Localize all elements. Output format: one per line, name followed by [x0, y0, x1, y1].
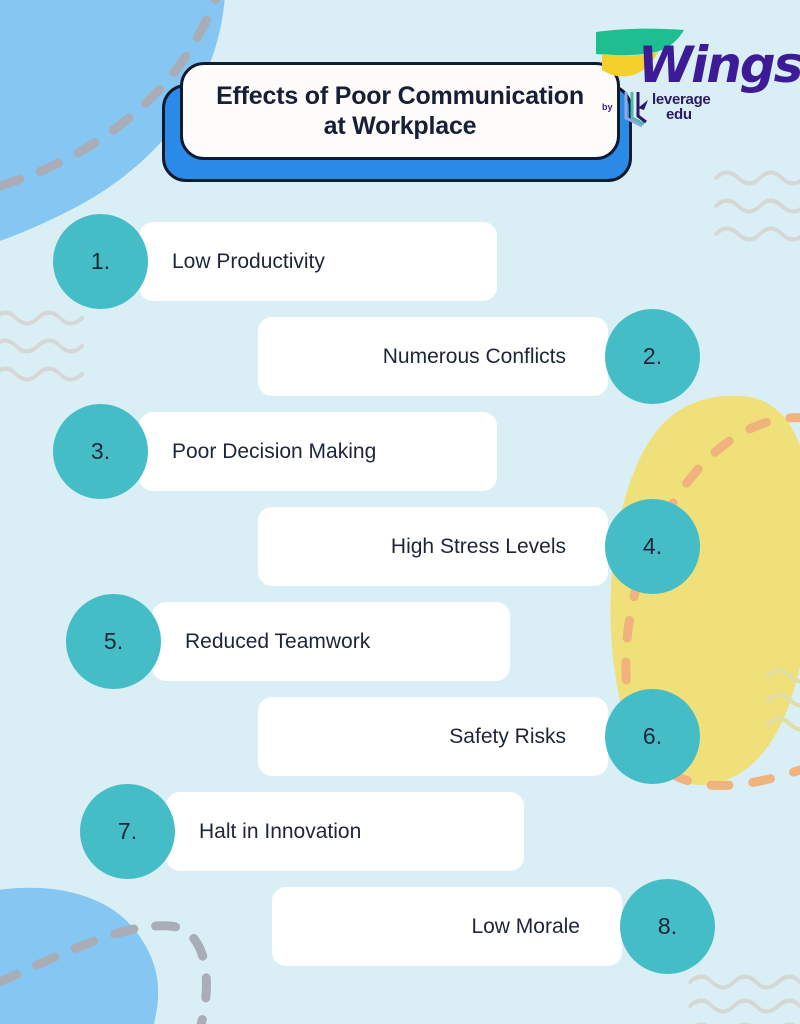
item-number-badge: 4. [605, 499, 700, 594]
item-label: Reduced Teamwork [185, 630, 370, 654]
item-number: 1. [91, 248, 110, 275]
logo-sub-line2: edu [666, 107, 710, 122]
item-card[interactable]: Reduced Teamwork [152, 602, 510, 681]
wings-logo[interactable]: Wings by leverage edu [586, 18, 786, 136]
infographic-poster: Effects of Poor Communication at Workpla… [0, 0, 800, 1024]
item-label: Numerous Conflicts [383, 345, 566, 369]
list-item[interactable]: Low Morale 8. [0, 879, 800, 974]
list-item[interactable]: 3. Poor Decision Making [0, 404, 800, 499]
item-number: 3. [91, 438, 110, 465]
logo-sub-wordmark: leverage edu [652, 92, 710, 122]
item-label: High Stress Levels [391, 535, 566, 559]
page-title-line2: at Workplace [216, 111, 584, 142]
item-number-badge: 7. [80, 784, 175, 879]
item-card[interactable]: Halt in Innovation [166, 792, 524, 871]
list-item[interactable]: 5. Reduced Teamwork [0, 594, 800, 689]
item-number-badge: 6. [605, 689, 700, 784]
item-card[interactable]: Numerous Conflicts [258, 317, 608, 396]
item-label: Low Morale [471, 915, 580, 939]
list-item[interactable]: 1. Low Productivity [0, 214, 800, 309]
item-card[interactable]: Safety Risks [258, 697, 608, 776]
item-label: Halt in Innovation [199, 820, 361, 844]
item-label: Low Productivity [172, 250, 325, 274]
item-number: 5. [104, 628, 123, 655]
title-banner-card: Effects of Poor Communication at Workpla… [180, 62, 620, 160]
item-label: Poor Decision Making [172, 440, 376, 464]
page-title: Effects of Poor Communication at Workpla… [216, 81, 584, 142]
logo-wordmark: Wings [638, 36, 800, 94]
wave-lines-bottom-right [690, 977, 800, 1024]
item-number-badge: 1. [53, 214, 148, 309]
leverage-edu-mark-icon [622, 90, 650, 130]
effects-list: 1. Low Productivity Numerous Conflicts 2… [0, 214, 800, 974]
item-number-badge: 8. [620, 879, 715, 974]
item-card[interactable]: Low Morale [272, 887, 622, 966]
item-number-badge: 5. [66, 594, 161, 689]
item-number: 8. [658, 913, 677, 940]
page-title-line1: Effects of Poor Communication [216, 81, 584, 112]
logo-by-label: by [602, 102, 613, 112]
list-item[interactable]: Numerous Conflicts 2. [0, 309, 800, 404]
item-number: 6. [643, 723, 662, 750]
list-item[interactable]: Safety Risks 6. [0, 689, 800, 784]
item-number-badge: 2. [605, 309, 700, 404]
list-item[interactable]: 7. Halt in Innovation [0, 784, 800, 879]
list-item[interactable]: High Stress Levels 4. [0, 499, 800, 594]
title-banner: Effects of Poor Communication at Workpla… [160, 62, 636, 186]
item-card[interactable]: Low Productivity [139, 222, 497, 301]
item-number: 4. [643, 533, 662, 560]
item-number: 2. [643, 343, 662, 370]
item-card[interactable]: High Stress Levels [258, 507, 608, 586]
item-card[interactable]: Poor Decision Making [139, 412, 497, 491]
logo-sub-line1: leverage [652, 92, 710, 107]
item-label: Safety Risks [449, 725, 566, 749]
item-number-badge: 3. [53, 404, 148, 499]
item-number: 7. [118, 818, 137, 845]
